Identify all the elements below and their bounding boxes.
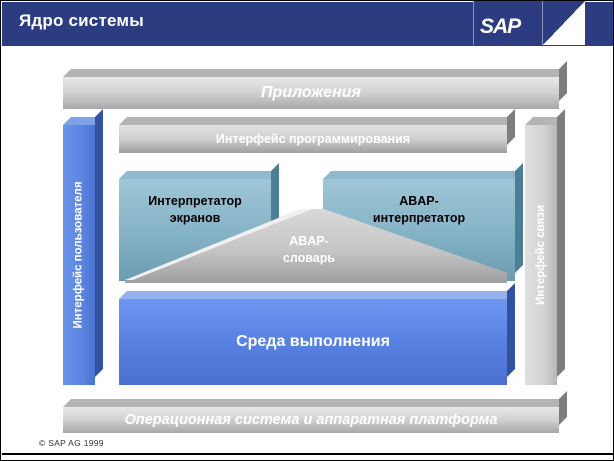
page-title: Ядро системы (19, 11, 144, 31)
user-interface-bar-label: Интерфейс пользователя (73, 181, 85, 328)
programming-interface-bar-top-face (119, 117, 515, 125)
communication-interface-bar-front-face: Интерфейс связи (525, 125, 557, 385)
screen-interpreter-box-top-face (119, 171, 279, 179)
communication-interface-bar: Интерфейс связи (525, 117, 557, 385)
operating-system-bar-label: Операционная система и аппаратная платфо… (125, 412, 498, 428)
abap-interpreter-box-label: ABAP- интерпретатор (373, 193, 465, 227)
abap-interpreter-box-top-face (323, 171, 523, 179)
operating-system-bar-side-face (559, 391, 567, 425)
footer-copyright: © SAP AG 1999 (39, 438, 104, 448)
programming-interface-bar-front-face: Интерфейс программирования (119, 125, 507, 153)
user-interface-bar: Интерфейс пользователя (63, 117, 95, 385)
applications-bar-top-face (63, 69, 567, 77)
user-interface-bar-front-face: Интерфейс пользователя (63, 125, 95, 385)
programming-interface-bar: Интерфейс программирования (119, 117, 507, 153)
runtime-environment-label: Среда выполнения (236, 333, 390, 351)
slide: Ядро системы SAP Приложения Интерфейс пр… (0, 0, 614, 461)
applications-bar-side-face (559, 61, 567, 101)
screen-interpreter-box-label: Интерпретатор экранов (148, 193, 242, 227)
user-interface-bar-side-face (95, 109, 103, 377)
runtime-environment-box-front-face: Среда выполнения (119, 299, 507, 385)
programming-interface-bar-label: Интерфейс программирования (216, 132, 410, 146)
operating-system-bar-top-face (63, 399, 567, 407)
abap-dictionary-label: ABAP- словарь (249, 233, 369, 267)
applications-bar: Приложения (63, 69, 559, 109)
communication-interface-bar-side-face (557, 109, 565, 377)
runtime-environment-box-side-face (507, 283, 515, 377)
sap-logo-block: SAP (473, 1, 543, 45)
header-wedge-decoration (543, 1, 585, 45)
applications-bar-label: Приложения (261, 84, 361, 102)
footer-divider (2, 453, 614, 455)
communication-interface-bar-label: Интерфейс связи (535, 205, 547, 305)
sap-logo-text: SAP (480, 15, 520, 39)
programming-interface-bar-side-face (507, 109, 515, 145)
runtime-environment-box-top-face (119, 291, 515, 299)
abap-interpreter-box-side-face (515, 163, 523, 273)
runtime-environment-box: Среда выполнения (119, 291, 507, 385)
operating-system-bar-front-face: Операционная система и аппаратная платфо… (63, 407, 559, 433)
header-divider (2, 46, 614, 48)
applications-bar-front-face: Приложения (63, 77, 559, 109)
operating-system-bar: Операционная система и аппаратная платфо… (63, 399, 559, 433)
